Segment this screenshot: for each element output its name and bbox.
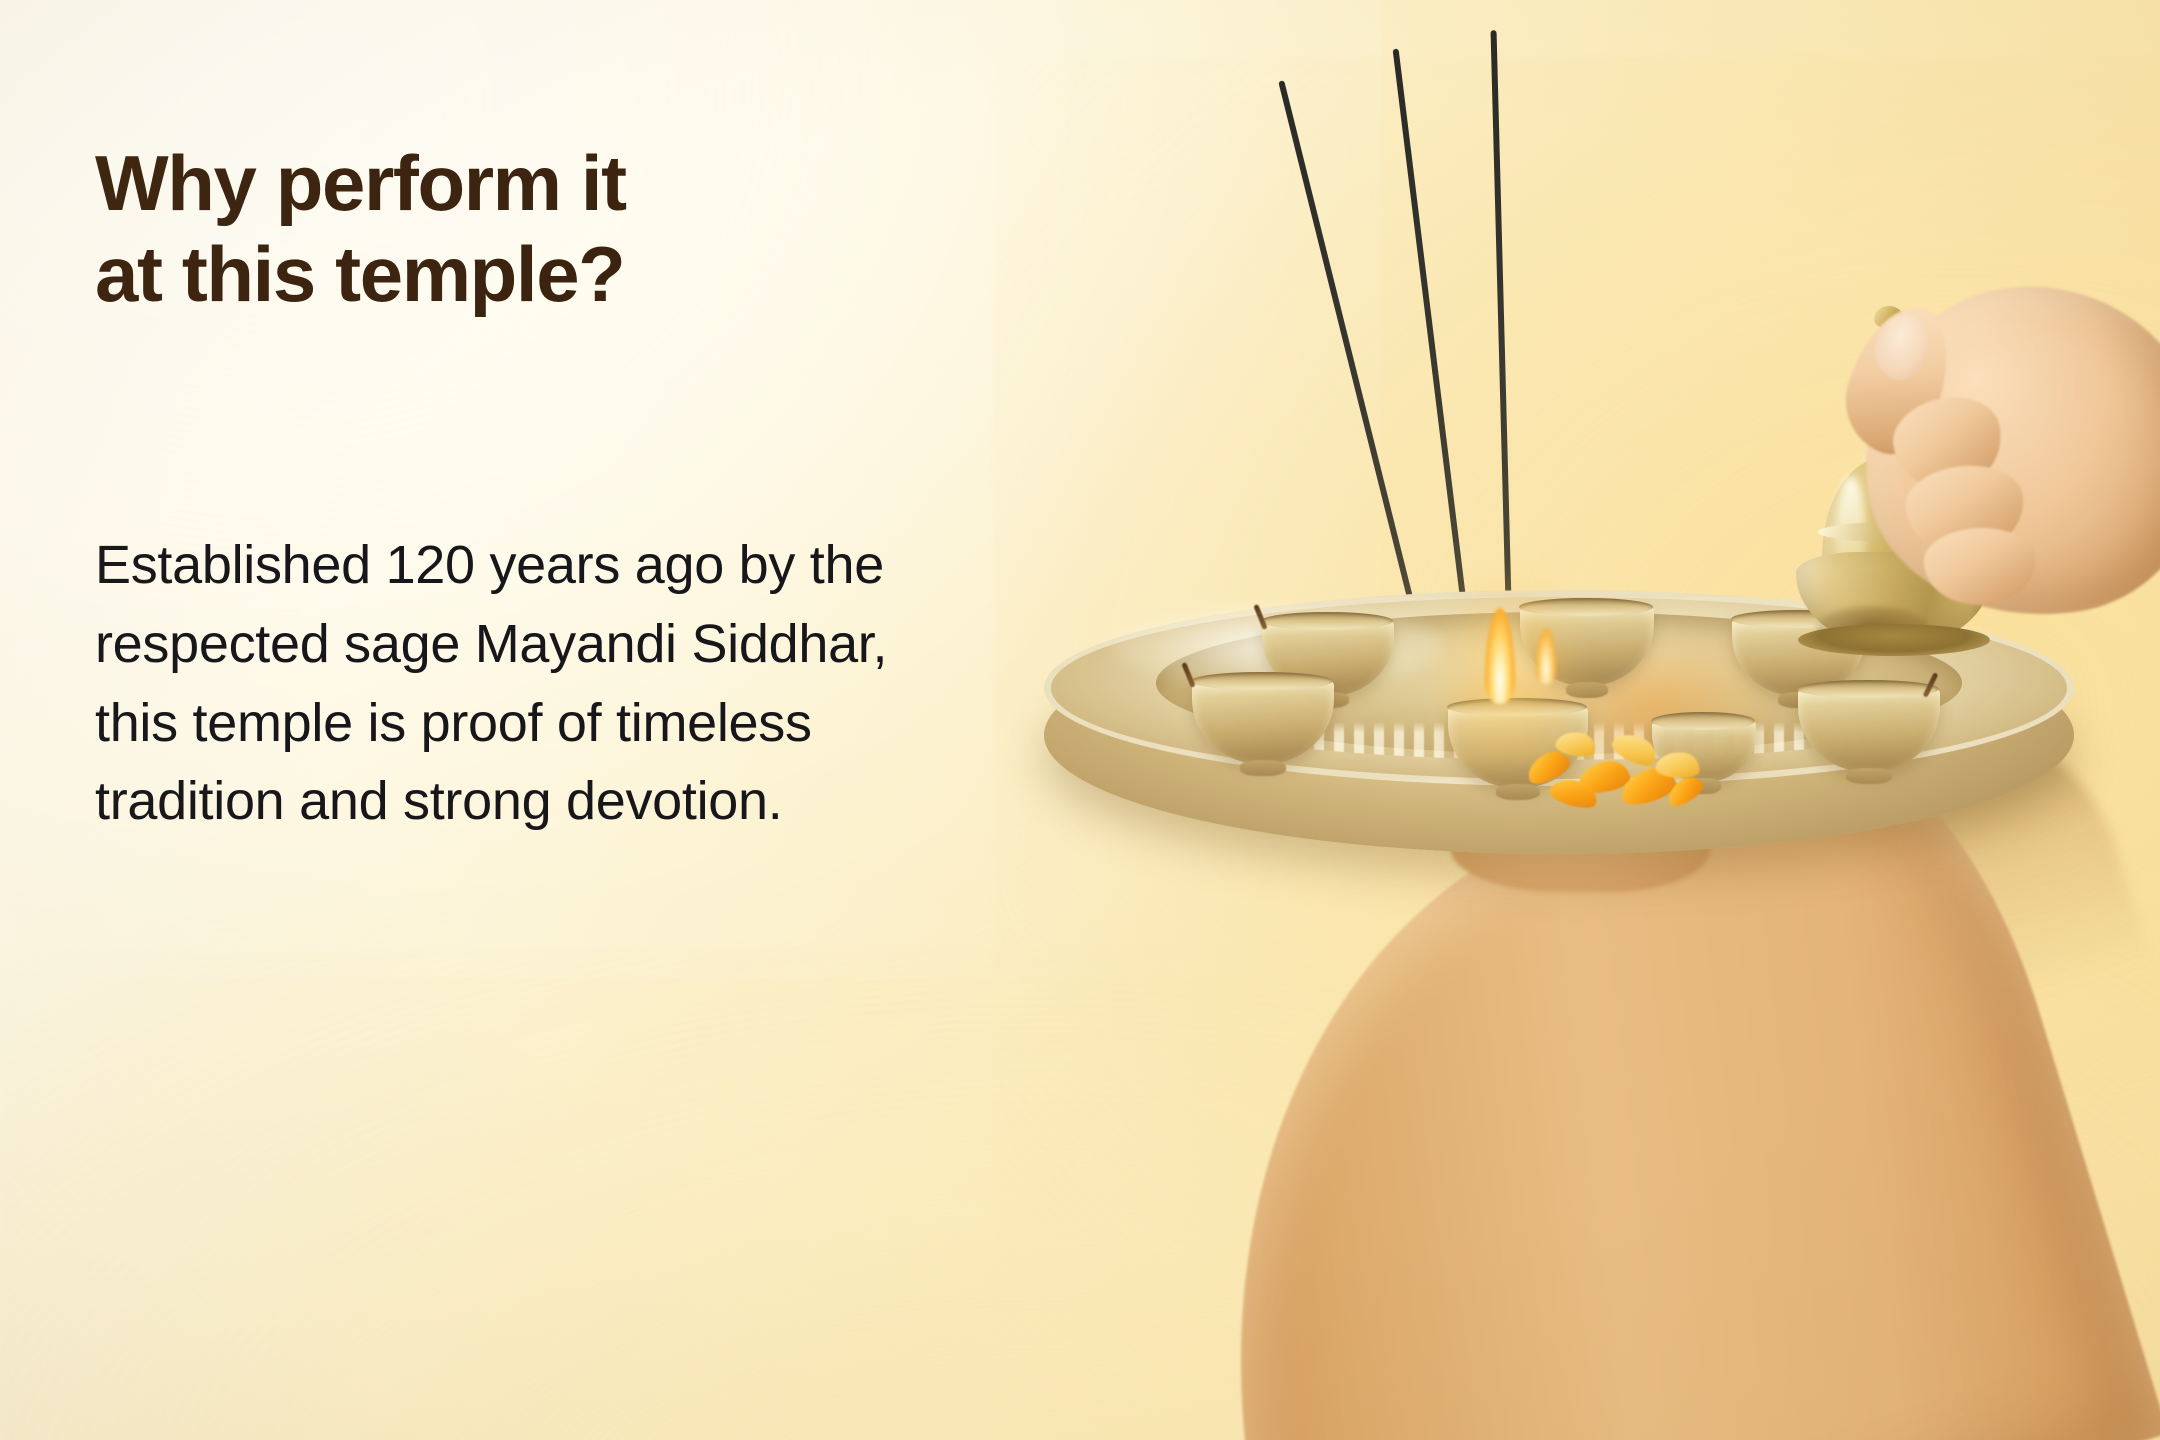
background-vignette bbox=[0, 0, 2160, 1440]
slide-canvas: Why perform it at this temple? Establish… bbox=[0, 0, 2160, 1440]
